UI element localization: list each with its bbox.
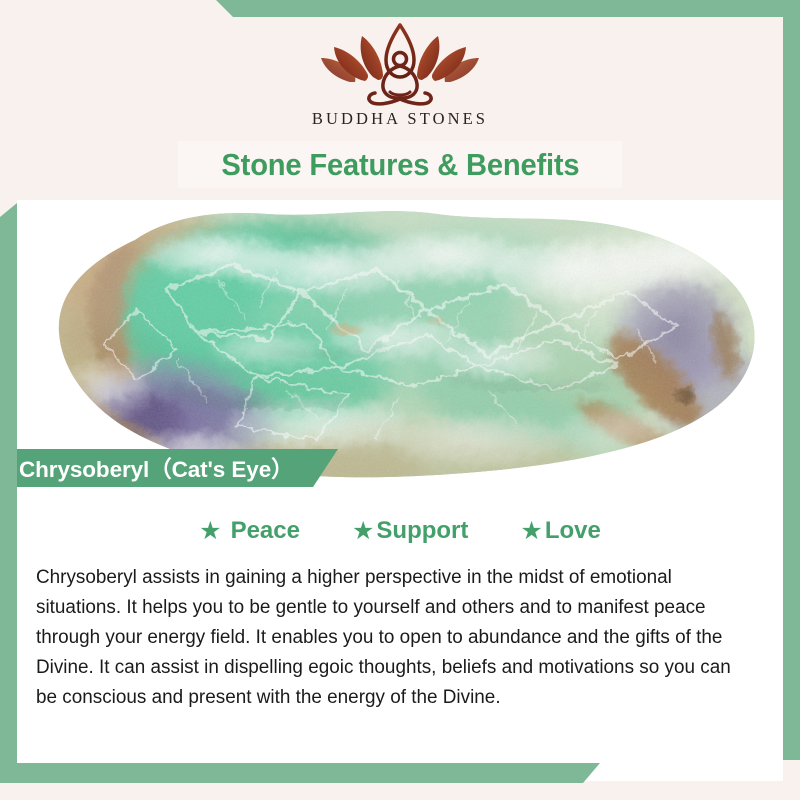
star-icon: ★ [520, 519, 542, 544]
page-title: Stone Features & Benefits [221, 147, 579, 183]
header: BUDDHA STONES Stone Features & Benefits [0, 0, 800, 203]
frame-right-bar [783, 0, 800, 760]
title-plate: Stone Features & Benefits [178, 141, 622, 188]
stone-name-banner: Chrysoberyl（Cat's Eye） [0, 449, 338, 487]
frame-left-bar [0, 203, 17, 783]
star-icon: ★ [199, 519, 221, 544]
infographic-canvas: BUDDHA STONES Stone Features & Benefits [0, 0, 800, 800]
benefit-label-peace: Peace [231, 517, 300, 545]
stone-description: Chrysoberyl assists in gaining a higher … [36, 562, 740, 712]
benefit-label-love: Love [545, 517, 601, 545]
benefit-item-support: ★ Support [352, 517, 468, 545]
benefits-row: ★ Peace ★ Support ★ Love [17, 512, 783, 550]
brand-logo: BUDDHA STONES [0, 18, 800, 129]
lotus-meditation-figure-icon [315, 18, 485, 106]
stone-name-label: Chrysoberyl（Cat's Eye） [19, 452, 294, 484]
star-icon: ★ [352, 519, 374, 544]
brand-name: BUDDHA STONES [312, 109, 488, 129]
benefit-item-love: ★ Love [520, 517, 600, 545]
benefit-label-support: Support [376, 517, 468, 545]
benefit-item-peace: ★ Peace [199, 517, 300, 545]
